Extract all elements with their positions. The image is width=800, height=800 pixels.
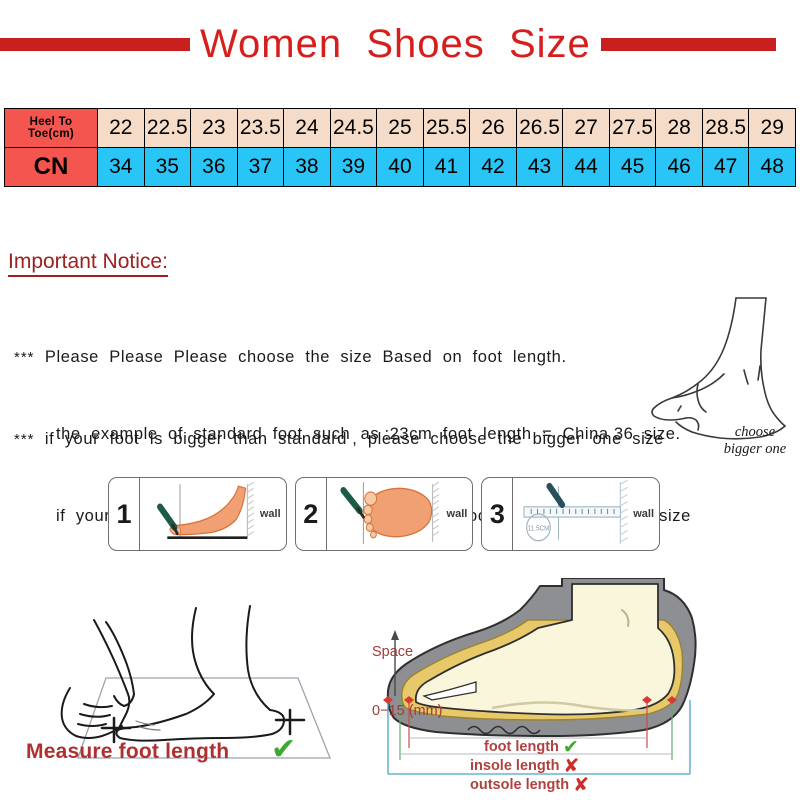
- page-title-row: Women Shoes Size: [0, 18, 800, 70]
- step-number: 1: [109, 478, 140, 550]
- cell-cn: 40: [377, 148, 424, 187]
- check-icon: ✔: [563, 738, 579, 757]
- wall-label: wall: [447, 508, 468, 520]
- space-label: Space 0−15 (mm): [372, 604, 443, 741]
- cell-cm: 22: [98, 109, 145, 148]
- cross-icon: ✘: [573, 776, 589, 795]
- step-3-illustration: 11.5CM wall: [513, 478, 659, 550]
- table-row-heel-to-toe: Heel To Toe(cm) 22 22.5 23 23.5 24 24.5 …: [5, 109, 796, 148]
- caption-line-2: bigger one: [700, 441, 800, 458]
- cell-cn: 38: [284, 148, 331, 187]
- size-chart-table-wrapper: Heel To Toe(cm) 22 22.5 23 23.5 24 24.5 …: [4, 108, 796, 187]
- measure-foot-length-caption: Measure foot length: [26, 740, 229, 764]
- notice-stars: ***: [14, 349, 35, 366]
- cell-cn: 35: [144, 148, 191, 187]
- cell-cn: 45: [609, 148, 656, 187]
- cell-cn: 34: [98, 148, 145, 187]
- step-number: 2: [296, 478, 327, 550]
- wall-label: wall: [260, 508, 281, 520]
- measurement-foot-length: foot length ✔: [470, 738, 589, 757]
- cell-cm: 29: [749, 109, 796, 148]
- cell-cm: 26.5: [516, 109, 563, 148]
- notice-line-1: Please Please Please choose the size Bas…: [45, 348, 567, 366]
- cell-cm: 23: [191, 109, 238, 148]
- cell-cn: 43: [516, 148, 563, 187]
- cell-cm: 23.5: [237, 109, 284, 148]
- measure-steps: 1 wall 2: [108, 477, 660, 551]
- row-header-cn: CN: [5, 148, 98, 187]
- cross-icon: ✘: [563, 757, 579, 776]
- cell-cm: 25: [377, 109, 424, 148]
- step-3: 3: [481, 477, 660, 551]
- ruler-badge-text: 11.5CM: [528, 525, 550, 532]
- cell-cm: 28: [656, 109, 703, 148]
- cell-cm: 24.5: [330, 109, 377, 148]
- cell-cn: 39: [330, 148, 377, 187]
- cell-cn: 42: [470, 148, 517, 187]
- cell-cm: 24: [284, 109, 331, 148]
- measurement-label: outsole length: [470, 776, 569, 795]
- cell-cm: 26: [470, 109, 517, 148]
- title-bar-right: [601, 38, 776, 51]
- important-notice-heading: Important Notice:: [8, 250, 168, 277]
- cell-cn: 48: [749, 148, 796, 187]
- cell-cn: 36: [191, 148, 238, 187]
- size-chart-table: Heel To Toe(cm) 22 22.5 23 23.5 24 24.5 …: [4, 108, 796, 187]
- measurement-insole-length: insole length ✘: [470, 757, 589, 776]
- row-header-heel-to-toe: Heel To Toe(cm): [5, 109, 98, 148]
- page-title: Women Shoes Size: [190, 24, 601, 64]
- shoe-measurement-labels: foot length ✔ insole length ✘ outsole le…: [470, 738, 589, 795]
- measurement-label: insole length: [470, 757, 559, 776]
- step-2: 2 wall: [295, 477, 474, 551]
- space-label-line-1: Space: [372, 643, 443, 663]
- space-label-line-2: 0−15 (mm): [372, 702, 443, 722]
- table-row-cn: CN 34 35 36 37 38 39 40 41 42 43 44 45 4…: [5, 148, 796, 187]
- cell-cn: 46: [656, 148, 703, 187]
- measurement-outsole-length: outsole length ✘: [470, 776, 589, 795]
- measurement-label: foot length: [484, 738, 559, 757]
- step-number: 3: [482, 478, 513, 550]
- cell-cm: 27: [563, 109, 610, 148]
- title-bar-left: [0, 38, 190, 51]
- step-2-illustration: wall: [327, 478, 473, 550]
- cell-cn: 44: [563, 148, 610, 187]
- cell-cn: 47: [702, 148, 749, 187]
- check-icon: ✔: [271, 735, 296, 765]
- cell-cm: 28.5: [702, 109, 749, 148]
- cell-cm: 25.5: [423, 109, 470, 148]
- cell-cn: 37: [237, 148, 284, 187]
- cell-cm: 27.5: [609, 109, 656, 148]
- choose-bigger-one-caption: choose bigger one: [700, 424, 800, 457]
- wall-label: wall: [633, 508, 654, 520]
- step-1-illustration: wall: [140, 478, 286, 550]
- cell-cm: 22.5: [144, 109, 191, 148]
- step-1: 1 wall: [108, 477, 287, 551]
- cell-cn: 41: [423, 148, 470, 187]
- notice-line-3: if your foot is bigger than standard , p…: [45, 430, 664, 448]
- notice-stars: ***: [14, 431, 35, 448]
- caption-line-1: choose: [700, 424, 800, 441]
